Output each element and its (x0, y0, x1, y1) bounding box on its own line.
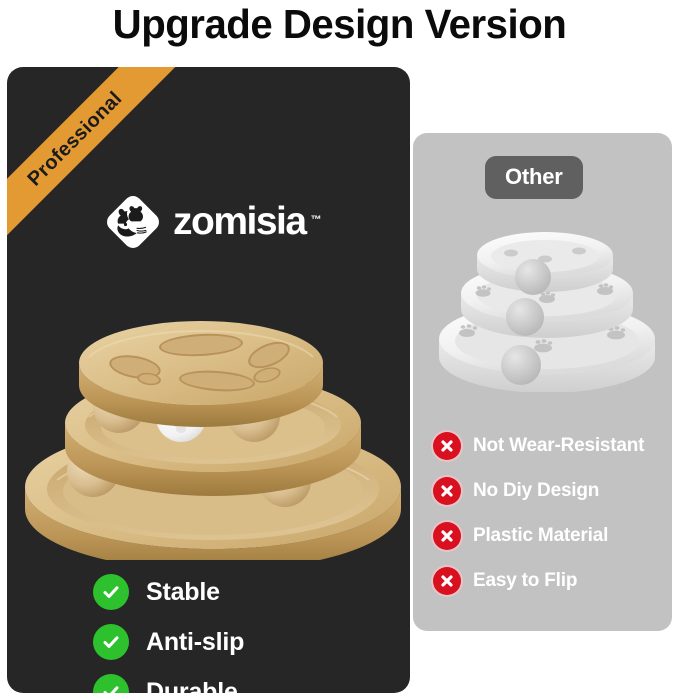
brand-name-text: zomisia (173, 200, 306, 243)
check-icon (93, 574, 129, 610)
cross-icon (433, 522, 461, 550)
bamboo-tower-product-image (17, 275, 407, 560)
ribbon-label: Professional (23, 87, 127, 191)
list-item: Not Wear-Resistant (433, 423, 672, 468)
page-title: Upgrade Design Version (7, 0, 672, 48)
brand-lockup: zomisia ™ (104, 193, 306, 251)
cross-icon (433, 432, 461, 460)
professional-panel: Professional zomisia ™ (7, 67, 410, 693)
plastic-tower-product-image (433, 217, 661, 392)
list-item: No Diy Design (433, 468, 672, 513)
list-item: Stable (93, 567, 403, 617)
list-item: Anti-slip (93, 617, 403, 667)
list-item: Plastic Material (433, 513, 672, 558)
check-icon (93, 674, 129, 693)
feature-list: Stable Anti-slip Durable Natural Wood (93, 567, 403, 693)
drawback-list: Not Wear-Resistant No Diy Design Plastic… (433, 423, 672, 603)
drawback-label: Plastic Material (473, 525, 608, 547)
cross-icon (433, 477, 461, 505)
feature-label: Durable (146, 678, 238, 694)
list-item: Durable (93, 667, 403, 693)
feature-label: Anti-slip (146, 628, 244, 657)
check-icon (93, 624, 129, 660)
list-item: Easy to Flip (433, 558, 672, 603)
other-badge: Other (485, 156, 583, 199)
drawback-label: No Diy Design (473, 480, 599, 502)
dog-cat-diamond-logo-icon (104, 193, 162, 251)
cross-icon (433, 567, 461, 595)
drawback-label: Easy to Flip (473, 570, 577, 592)
trademark-symbol: ™ (311, 200, 322, 240)
brand-name: zomisia ™ (173, 202, 306, 242)
feature-label: Stable (146, 578, 220, 607)
other-panel: Other (413, 133, 672, 631)
drawback-label: Not Wear-Resistant (473, 435, 644, 457)
